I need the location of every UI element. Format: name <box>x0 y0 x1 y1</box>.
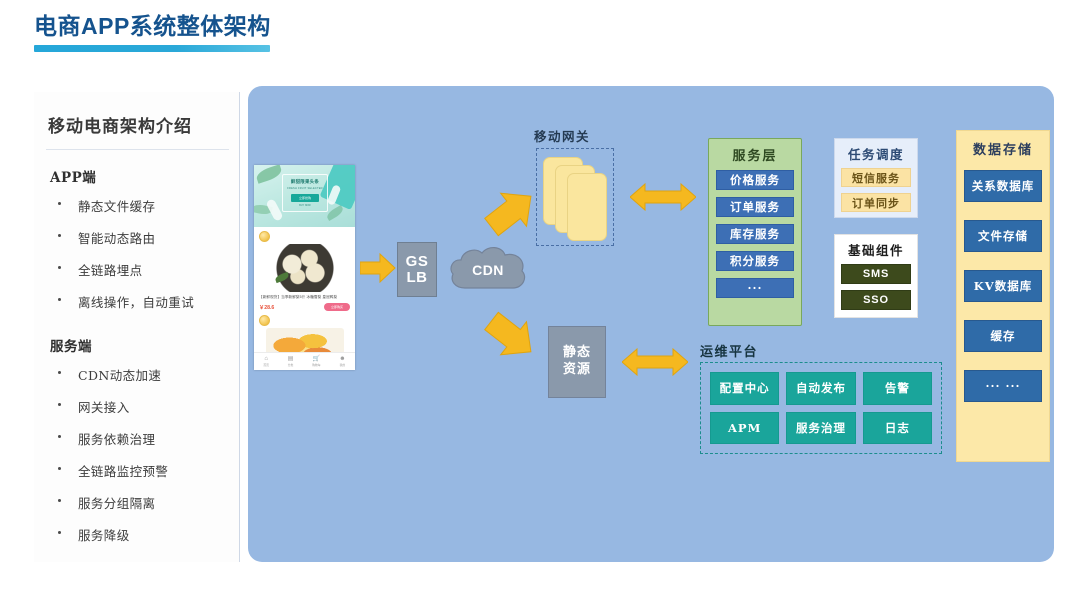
list-item: 静态文件缓存 <box>42 196 233 215</box>
nav-label: 首页 <box>263 363 269 367</box>
ops-item-auto-deploy[interactable]: 自动发布 <box>786 372 855 405</box>
nav-label: 分类 <box>288 363 294 367</box>
leaf-decor-icon <box>255 165 283 184</box>
nav-item-cart[interactable]: 🛒 购物车 <box>312 356 320 367</box>
gslb-line-2: LB <box>407 270 428 286</box>
panel-service-layer: 服务层 价格服务 订单服务 库存服务 积分服务 ··· <box>708 138 802 326</box>
panel-data-storage: 数据存储 关系数据库 文件存储 KV数据库 缓存 ··· ··· <box>956 130 1050 462</box>
buy-button[interactable]: 立即购买 <box>324 303 350 311</box>
storage-item-kv-store[interactable]: KV数据库 <box>964 270 1042 302</box>
service-layer-title: 服务层 <box>709 145 801 164</box>
panel-base-components: 基础组件 SMS SSO <box>834 234 918 318</box>
static-res-line-1: 静态 <box>563 345 591 362</box>
left-panel-heading: 移动电商架构介绍 <box>48 112 233 137</box>
node-gslb: GS LB <box>397 242 437 297</box>
arrow-diagonal-down-cdn-to-static <box>484 310 540 364</box>
title-underline-bar <box>34 45 270 52</box>
phone-bottom-nav: ⌂ 首页 ▤ 分类 🛒 购物车 ☻ 我的 <box>254 352 355 370</box>
banner-note: BUY NOW <box>299 204 310 207</box>
service-item-more[interactable]: ··· <box>716 278 794 298</box>
node-cdn: CDN <box>447 244 529 296</box>
gateway-group-box <box>536 148 614 246</box>
list-item: 离线操作，自动重试 <box>42 292 233 311</box>
buy-button-label: 立即购买 <box>331 305 343 309</box>
section-title-server: 服务端 <box>50 335 233 355</box>
arrow-right-phone-to-gslb <box>360 253 396 283</box>
list-item: 智能动态路由 <box>42 228 233 247</box>
ops-item-apm[interactable]: APM <box>710 412 779 445</box>
task-item-sms[interactable]: 短信服务 <box>841 168 911 187</box>
category-icon: ▤ <box>288 356 294 362</box>
phone-mockup: 鲜甜限果头条 FRESH FRUIT SELECTED 立即抢购 BUY NOW… <box>254 165 355 370</box>
section-gap <box>42 325 233 335</box>
cdn-label: CDN <box>447 244 529 296</box>
left-panel-section-server: 服务端 CDN动态加速 网关接入 服务依赖治理 全链路监控预警 服务分组隔离 服… <box>42 335 233 544</box>
slide-root: 电商APP系统整体架构 移动电商架构介绍 APP端 静态文件缓存 智能动态路由 … <box>0 0 1080 608</box>
product-price-row: ￥28.6 立即购买 <box>259 303 350 311</box>
profile-icon: ☻ <box>339 356 345 362</box>
panel-ops-platform: 配置中心 自动发布 告警 APM 服务治理 日志 <box>700 362 942 454</box>
list-server-features: CDN动态加速 网关接入 服务依赖治理 全链路监控预警 服务分组隔离 服务降级 <box>42 365 233 544</box>
ops-platform-grid: 配置中心 自动发布 告警 APM 服务治理 日志 <box>710 372 932 444</box>
ops-item-service-govern[interactable]: 服务治理 <box>786 412 855 445</box>
base-components-title: 基础组件 <box>835 240 917 259</box>
phone-banner-card: 鲜甜限果头条 FRESH FRUIT SELECTED 立即抢购 BUY NOW <box>282 174 328 212</box>
left-info-panel: 移动电商架构介绍 APP端 静态文件缓存 智能动态路由 全链路埋点 离线操作，自… <box>34 92 240 562</box>
gateway-card <box>567 173 607 241</box>
gateway-label: 移动网关 <box>534 126 590 145</box>
section-title-app: APP端 <box>50 166 233 186</box>
phone-content: 【新鲜现货】当季新鲜梨5斤 冰糖雪梨 皇冠鸭梨 ￥28.6 立即购买 ⌂ 首页 … <box>254 227 355 370</box>
nav-item-category[interactable]: ▤ 分类 <box>288 356 294 367</box>
service-item-inventory[interactable]: 库存服务 <box>716 224 794 244</box>
node-static-resources: 静态 资源 <box>548 326 606 398</box>
banner-title: 鲜甜限果头条 <box>291 179 319 185</box>
ops-item-alerting[interactable]: 告警 <box>863 372 932 405</box>
gslb-line-1: GS <box>406 254 429 270</box>
list-item: 服务分组隔离 <box>42 493 233 512</box>
ops-item-logging[interactable]: 日志 <box>863 412 932 445</box>
left-panel-divider <box>46 149 229 150</box>
product-title: 【新鲜现货】当季新鲜梨5斤 冰糖雪梨 皇冠鸭梨 <box>259 295 350 300</box>
static-res-line-2: 资源 <box>563 362 591 379</box>
home-icon: ⌂ <box>264 356 268 362</box>
ops-item-config-center[interactable]: 配置中心 <box>710 372 779 405</box>
banner-cta-button[interactable]: 立即抢购 <box>291 194 319 202</box>
arrow-bidirectional-gateway-service <box>630 180 696 214</box>
list-item: 全链路监控预警 <box>42 461 233 480</box>
list-item: 服务降级 <box>42 525 233 544</box>
nav-item-profile[interactable]: ☻ 我的 <box>339 356 345 367</box>
list-item: CDN动态加速 <box>42 365 233 384</box>
nav-item-home[interactable]: ⌂ 首页 <box>263 356 269 367</box>
coin-badge-icon <box>259 231 270 242</box>
ops-platform-label: 运维平台 <box>700 341 758 360</box>
page-title-block: 电商APP系统整体架构 <box>34 14 271 52</box>
cart-icon: 🛒 <box>313 356 320 362</box>
service-item-order[interactable]: 订单服务 <box>716 197 794 217</box>
left-panel-section-app: APP端 静态文件缓存 智能动态路由 全链路埋点 离线操作，自动重试 <box>42 166 233 311</box>
arrow-diagonal-up-cdn-to-gateway <box>484 184 540 238</box>
banner-subtitle: FRESH FRUIT SELECTED <box>287 187 323 190</box>
storage-item-file-store[interactable]: 文件存储 <box>964 220 1042 252</box>
storage-item-more[interactable]: ··· ··· <box>964 370 1042 402</box>
storage-item-cache[interactable]: 缓存 <box>964 320 1042 352</box>
service-item-points[interactable]: 积分服务 <box>716 251 794 271</box>
coin-badge-icon <box>259 315 270 326</box>
page-title: 电商APP系统整体架构 <box>34 14 271 39</box>
task-item-order-sync[interactable]: 订单同步 <box>841 193 911 212</box>
architecture-canvas: 鲜甜限果头条 FRESH FRUIT SELECTED 立即抢购 BUY NOW… <box>248 86 1054 562</box>
panel-task-scheduler: 任务调度 短信服务 订单同步 <box>834 138 918 218</box>
phone-banner: 鲜甜限果头条 FRESH FRUIT SELECTED 立即抢购 BUY NOW <box>254 165 355 227</box>
arrow-bidirectional-static-ops <box>622 345 688 379</box>
leaf-decor-icon <box>325 205 345 221</box>
data-storage-title: 数据存储 <box>957 139 1049 158</box>
task-scheduler-title: 任务调度 <box>835 144 917 163</box>
list-item: 网关接入 <box>42 397 233 416</box>
nav-label: 我的 <box>340 363 346 367</box>
service-item-price[interactable]: 价格服务 <box>716 170 794 190</box>
product-image-pears <box>269 244 341 292</box>
nav-label: 购物车 <box>312 363 320 367</box>
list-item: 服务依赖治理 <box>42 429 233 448</box>
list-item: 全链路埋点 <box>42 260 233 279</box>
list-app-features: 静态文件缓存 智能动态路由 全链路埋点 离线操作，自动重试 <box>42 196 233 311</box>
base-item-sms[interactable]: SMS <box>841 264 911 284</box>
storage-item-rdbms[interactable]: 关系数据库 <box>964 170 1042 202</box>
product-price: ￥28.6 <box>259 304 274 311</box>
base-item-sso[interactable]: SSO <box>841 290 911 310</box>
banner-cta-label: 立即抢购 <box>299 196 311 200</box>
